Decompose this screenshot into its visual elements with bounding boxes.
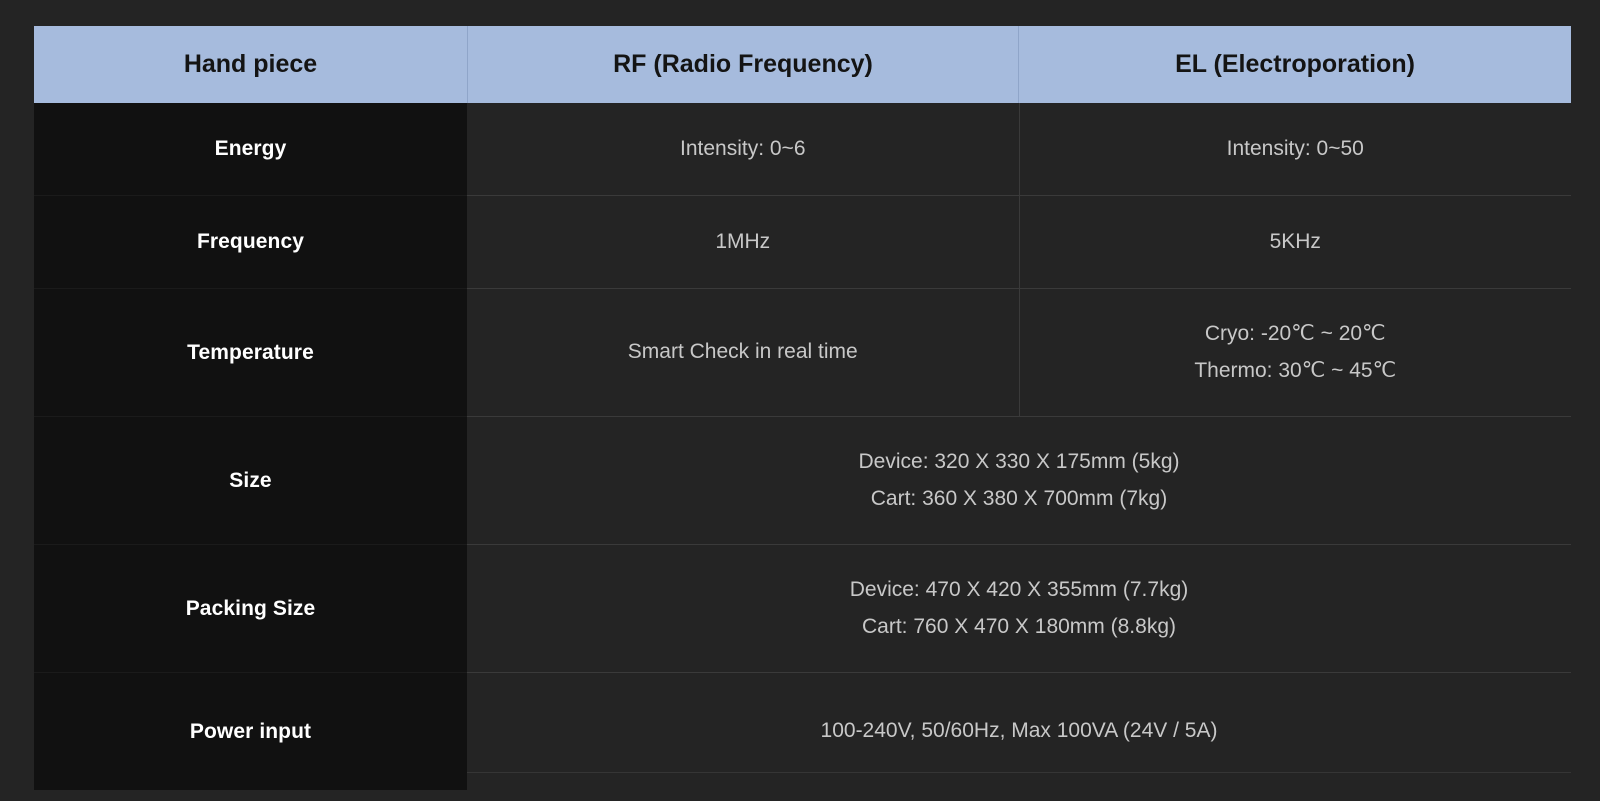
table-row: Packing Size Device: 470 X 420 X 355mm (… xyxy=(34,545,1571,673)
value-line: 5KHz xyxy=(1020,224,1572,260)
cell-energy-rf: Intensity: 0~6 xyxy=(467,103,1019,196)
cell-energy-el: Intensity: 0~50 xyxy=(1019,103,1571,196)
row-label-energy: Energy xyxy=(34,103,467,196)
table-row: Temperature Smart Check in real time Cry… xyxy=(34,289,1571,417)
row-label-temperature: Temperature xyxy=(34,289,467,417)
table-body: Energy Intensity: 0~6 Intensity: 0~50 Fr… xyxy=(34,103,1571,790)
value-line: Device: 470 X 420 X 355mm (7.7kg) xyxy=(467,572,1571,608)
cell-packing-size-merged: Device: 470 X 420 X 355mm (7.7kg) Cart: … xyxy=(467,545,1571,673)
value-line: Intensity: 0~50 xyxy=(1020,131,1572,167)
specification-table: Hand piece RF (Radio Frequency) EL (Elec… xyxy=(34,26,1571,790)
table-row: Energy Intensity: 0~6 Intensity: 0~50 xyxy=(34,103,1571,196)
cell-frequency-el: 5KHz xyxy=(1019,196,1571,289)
value-line: Cryo: -20℃ ~ 20℃ xyxy=(1020,316,1572,352)
value-line: 100-240V, 50/60Hz, Max 100VA (24V / 5A) xyxy=(467,713,1571,749)
row-label-size: Size xyxy=(34,417,467,545)
value-line: Intensity: 0~6 xyxy=(467,131,1019,167)
value-line: Smart Check in real time xyxy=(467,334,1019,370)
header-row: Hand piece RF (Radio Frequency) EL (Elec… xyxy=(34,26,1571,103)
table-row: Frequency 1MHz 5KHz xyxy=(34,196,1571,289)
column-header-rf: RF (Radio Frequency) xyxy=(467,26,1019,103)
spec-table-page: Hand piece RF (Radio Frequency) EL (Elec… xyxy=(0,0,1600,801)
column-header-hand-piece: Hand piece xyxy=(34,26,467,103)
cell-temperature-el: Cryo: -20℃ ~ 20℃ Thermo: 30℃ ~ 45℃ xyxy=(1019,289,1571,417)
value-line: 1MHz xyxy=(467,224,1019,260)
value-line: Device: 320 X 330 X 175mm (5kg) xyxy=(467,444,1571,480)
table-row: Size Device: 320 X 330 X 175mm (5kg) Car… xyxy=(34,417,1571,545)
row-label-power-input: Power input xyxy=(34,673,467,791)
cell-frequency-rf: 1MHz xyxy=(467,196,1019,289)
row-label-packing-size: Packing Size xyxy=(34,545,467,673)
cell-temperature-rf: Smart Check in real time xyxy=(467,289,1019,417)
table-header: Hand piece RF (Radio Frequency) EL (Elec… xyxy=(34,26,1571,103)
column-header-el: EL (Electroporation) xyxy=(1019,26,1571,103)
value-line: Cart: 760 X 470 X 180mm (8.8kg) xyxy=(467,609,1571,645)
table-bottom-divider xyxy=(467,772,1571,773)
value-line: Thermo: 30℃ ~ 45℃ xyxy=(1020,353,1572,389)
row-label-frequency: Frequency xyxy=(34,196,467,289)
cell-size-merged: Device: 320 X 330 X 175mm (5kg) Cart: 36… xyxy=(467,417,1571,545)
value-line: Cart: 360 X 380 X 700mm (7kg) xyxy=(467,481,1571,517)
